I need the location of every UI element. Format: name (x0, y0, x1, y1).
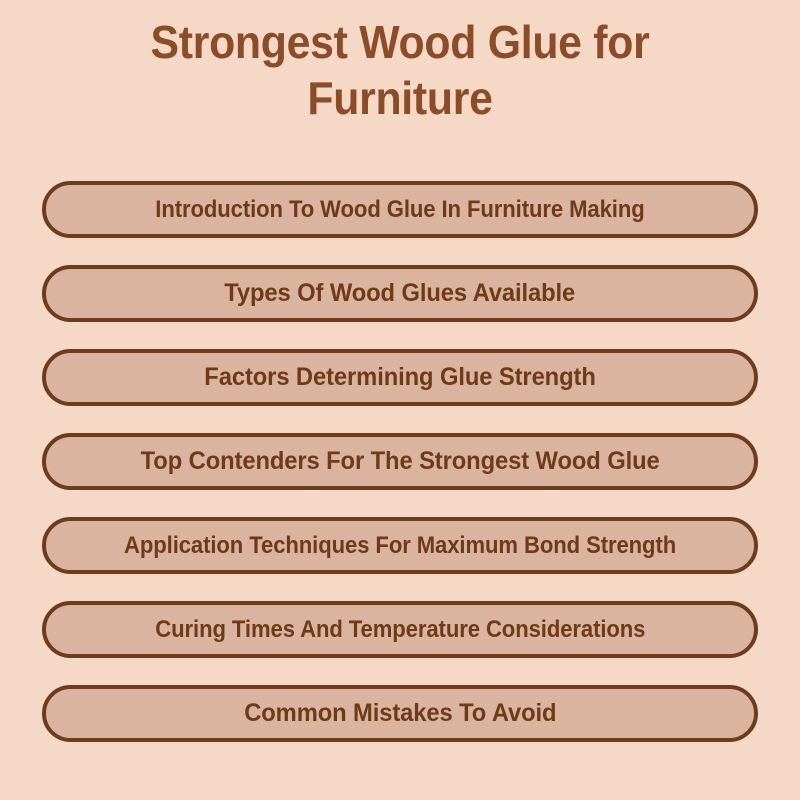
toc-item-common-mistakes-to-avoid[interactable]: Common Mistakes To Avoid (42, 685, 758, 742)
toc-item-label: Common Mistakes To Avoid (244, 701, 556, 726)
page-title: Strongest Wood Glue for Furniture (75, 14, 726, 126)
toc-item-curing-times-and-temperature-considerations[interactable]: Curing Times And Temperature Considerati… (42, 601, 758, 658)
toc-item-top-contenders-for-the-strongest-wood-glue[interactable]: Top Contenders For The Strongest Wood Gl… (42, 433, 758, 490)
toc-item-label: Top Contenders For The Strongest Wood Gl… (141, 449, 660, 474)
toc-item-factors-determining-glue-strength[interactable]: Factors Determining Glue Strength (42, 349, 758, 406)
toc-item-label: Curing Times And Temperature Considerati… (155, 618, 645, 642)
infographic-canvas: Strongest Wood Glue for Furniture Introd… (0, 0, 800, 800)
toc-item-label: Introduction To Wood Glue In Furniture M… (155, 198, 644, 222)
table-of-contents-list: Introduction To Wood Glue In Furniture M… (0, 181, 800, 742)
toc-item-label: Types Of Wood Glues Available (225, 281, 576, 306)
toc-item-introduction-to-wood-glue-in-furniture-making[interactable]: Introduction To Wood Glue In Furniture M… (42, 181, 758, 238)
toc-item-label: Application Techniques For Maximum Bond … (124, 534, 676, 558)
toc-item-application-techniques-for-maximum-bond-strength[interactable]: Application Techniques For Maximum Bond … (42, 517, 758, 574)
toc-item-types-of-wood-glues-available[interactable]: Types Of Wood Glues Available (42, 265, 758, 322)
toc-item-label: Factors Determining Glue Strength (204, 365, 595, 390)
